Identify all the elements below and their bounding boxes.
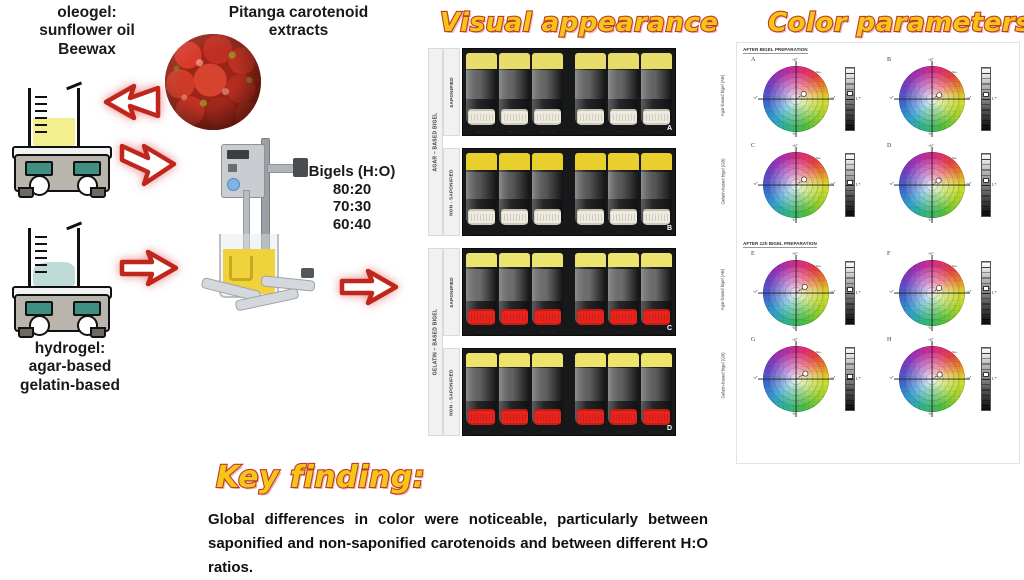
- panel-letter: A: [751, 57, 755, 63]
- color-wheel-panel-e: E+b*-b*-a*+a*hueL*: [751, 251, 875, 335]
- visual-treatment-label: SAPONIFIED: [443, 48, 460, 136]
- vial-bigel-layer: [575, 172, 606, 199]
- chromaticity-diagram: [763, 260, 829, 326]
- lightness-ticks: [846, 262, 854, 324]
- axis-label-a-negative: -a*: [889, 182, 894, 186]
- stirrer-display: [227, 150, 249, 159]
- stirrer-indicator-icon: [227, 178, 240, 191]
- vial-tube: [532, 253, 563, 325]
- key-finding-heading: Key finding:: [216, 460, 425, 495]
- color-wheel-panel-b: B+b*-b*-a*+a*hueL*: [887, 57, 1011, 141]
- chromaticity-diagram: [899, 346, 965, 412]
- color-wheel-panel-a: A+b*-b*-a*+a*hueL*: [751, 57, 875, 141]
- color-parameters-figure: AFTER BIGEL PREPARATION AFTER 12h BIGEL …: [736, 42, 1020, 464]
- visual-panel-d: GB80:20_400GB70:30_400GB60:40_400GB80:20…: [462, 348, 676, 436]
- vial-oleogel-layer: [466, 153, 497, 170]
- hue-arc-label: hue: [952, 70, 957, 74]
- color-parameters-heading: Color parameters: [768, 8, 1024, 38]
- vial-sample: GB60:40_400: [532, 353, 563, 435]
- vial-sample: AB80:20_800: [575, 53, 606, 135]
- vial-bigel-layer: [608, 368, 639, 401]
- vial-sample-label: GB80:20_400: [466, 331, 497, 334]
- color-row-axis-title-text: Agar-based bigel (AB): [721, 268, 726, 309]
- axis-label-a-positive: +a*: [830, 182, 835, 186]
- visual-treatment-label: NON - SAPONIFIED: [443, 348, 460, 436]
- vial-sample: AB60:40_400: [532, 53, 563, 135]
- vial-tube: [532, 53, 563, 125]
- lightness-marker: [983, 92, 989, 97]
- vial-sample: GB80:20_400: [466, 353, 497, 435]
- lightness-scale-bar: [845, 67, 855, 131]
- vial-tube: [466, 353, 497, 425]
- a-axis: [894, 379, 970, 380]
- vial-oleogel-layer: [608, 153, 639, 170]
- vial-tube: [608, 353, 639, 425]
- axis-label-a-positive: +a*: [830, 290, 835, 294]
- color-row-axis-title: Gelatin-based bigel (GB): [716, 142, 730, 220]
- vial-cap: [643, 409, 670, 425]
- vial-sample: GB70:30_800: [608, 353, 639, 435]
- lightness-axis-label: L*: [856, 376, 860, 381]
- vial-bigel-layer: [499, 70, 530, 99]
- hue-arc-label: hue: [816, 264, 821, 268]
- vial-oleogel-layer: [532, 53, 563, 69]
- a-axis: [894, 99, 970, 100]
- vial-bigel-layer: [532, 368, 563, 401]
- vial-cap: [610, 309, 637, 325]
- arrow-oleogel-to-stirrer: [118, 140, 180, 192]
- lightness-scale-bar: [981, 347, 991, 411]
- axis-label-b-positive: +b*: [792, 144, 798, 148]
- vial-cap: [468, 409, 495, 425]
- vial-sample: GB80:20_400: [466, 253, 497, 335]
- vial-cap: [610, 209, 637, 225]
- vial-sample: GB70:30_400: [499, 353, 530, 435]
- color-row-axis-title-text: Gelatin-based bigel (GB): [721, 158, 726, 204]
- lightness-ticks: [982, 68, 990, 130]
- vial-cap: [501, 109, 528, 125]
- vial-sample-label: GB70:30_400: [499, 431, 530, 434]
- vial-sample: GB60:40_800: [641, 353, 672, 435]
- vial-bigel-layer: [499, 269, 530, 301]
- vial-sample: AB60:40_800: [641, 53, 672, 135]
- panel-letter: C: [751, 143, 755, 149]
- vial-bigel-layer: [608, 269, 639, 301]
- lightness-axis-label: L*: [992, 376, 996, 381]
- vial-tube: [608, 253, 639, 325]
- vial-sample-label: AB80:20_400: [466, 231, 497, 234]
- hue-arc-label: hue: [816, 350, 821, 354]
- axis-label-b-negative: -b*: [928, 412, 933, 416]
- visual-treatment-text: SAPONIFIED: [449, 77, 454, 108]
- color-wheel-panel-h: H+b*-b*-a*+a*hueL*: [887, 337, 1011, 421]
- arrow-hydrogel-to-stirrer: [118, 248, 180, 288]
- pitanga-fruit-image: [165, 34, 261, 130]
- axis-label-a-negative: -a*: [889, 376, 894, 380]
- vial-group: GB80:20_400GB70:30_400GB60:40_400: [463, 249, 566, 335]
- vial-tube: [641, 153, 672, 225]
- visual-treatment-text: NON - SAPONIFIED: [449, 369, 454, 415]
- visual-treatment-label: NON - SAPONIFIED: [443, 148, 460, 236]
- vial-tube: [466, 53, 497, 125]
- lightness-ticks: [846, 68, 854, 130]
- vial-cap: [643, 309, 670, 325]
- vial-tube: [641, 353, 672, 425]
- color-row-axis-title: Gelatin-based bigel (GB): [716, 336, 730, 414]
- vial-oleogel-layer: [466, 253, 497, 267]
- a-axis: [894, 185, 970, 186]
- hue-arc-label: hue: [816, 156, 821, 160]
- lightness-marker: [847, 180, 853, 185]
- axis-label-a-positive: +a*: [966, 290, 971, 294]
- vial-bigel-layer: [466, 70, 497, 99]
- visual-panel-b: AB80:20_400AB70:30_400AB60:40_400AB80:20…: [462, 148, 676, 236]
- vial-bigel-layer: [641, 172, 672, 199]
- vial-sample: AB80:20_800: [575, 153, 606, 235]
- vial-bigel-layer: [532, 172, 563, 199]
- vial-oleogel-layer: [575, 253, 606, 267]
- vial-cap: [501, 209, 528, 225]
- lightness-scale-bar: [845, 153, 855, 217]
- vial-bigel-layer: [499, 172, 530, 199]
- axis-label-a-negative: -a*: [753, 96, 758, 100]
- vial-sample-label: GB80:20_800: [575, 331, 606, 334]
- vial-sample-label: AB70:30_400: [499, 231, 530, 234]
- visual-panel-c: GB80:20_400GB70:30_400GB60:40_400GB80:20…: [462, 248, 676, 336]
- stirrer-button[interactable]: [228, 164, 237, 172]
- vial-sample: GB70:30_800: [608, 253, 639, 335]
- lightness-axis-label: L*: [992, 96, 996, 101]
- hue-arc-label: hue: [816, 70, 821, 74]
- visual-group-label-agar: AGAR – BASED BIGEL: [428, 48, 443, 236]
- vial-sample: AB70:30_400: [499, 53, 530, 135]
- vial-group: GB80:20_400GB70:30_400GB60:40_400: [463, 349, 566, 435]
- vial-tube: [575, 353, 606, 425]
- vial-sample-label: AB70:30_400: [499, 131, 530, 134]
- vial-bigel-layer: [608, 70, 639, 99]
- color-wheel-panel-f: F+b*-b*-a*+a*hueL*: [887, 251, 1011, 335]
- axis-label-a-negative: -a*: [753, 376, 758, 380]
- vial-group: GB80:20_800GB70:30_800GB60:40_800: [572, 349, 675, 435]
- vial-oleogel-layer: [641, 253, 672, 267]
- vial-sample-label: GB80:20_400: [466, 431, 497, 434]
- vial-oleogel-layer: [641, 153, 672, 170]
- vial-oleogel-layer: [499, 253, 530, 267]
- lightness-marker: [847, 91, 853, 96]
- lightness-ticks: [982, 262, 990, 324]
- panel-letter: G: [751, 337, 755, 343]
- axis-label-a-positive: +a*: [966, 182, 971, 186]
- a-axis: [758, 379, 834, 380]
- vial-cap: [643, 209, 670, 225]
- lightness-scale-bar: [981, 153, 991, 217]
- vial-group: AB80:20_400AB70:30_400AB60:40_400: [463, 49, 566, 135]
- a-axis: [758, 293, 834, 294]
- color-wheel-panel-c: C+b*-b*-a*+a*hueL*: [751, 143, 875, 227]
- a-axis: [894, 293, 970, 294]
- vial-oleogel-layer: [499, 353, 530, 367]
- vial-tube: [499, 353, 530, 425]
- vial-cap: [643, 109, 670, 125]
- vial-sample-label: AB60:40_400: [532, 131, 563, 134]
- lightness-axis-label: L*: [992, 290, 996, 295]
- vial-sample-label: GB80:20_800: [575, 431, 606, 434]
- vial-sample: AB70:30_400: [499, 153, 530, 235]
- arrow-stirrer-to-results: [338, 268, 400, 306]
- vial-oleogel-layer: [532, 253, 563, 267]
- panel-letter: D: [887, 143, 891, 149]
- vial-sample-label: AB80:20_800: [575, 231, 606, 234]
- visual-appearance-heading: Visual appearance: [440, 8, 718, 38]
- axis-label-b-negative: -b*: [792, 326, 797, 330]
- vial-tube: [575, 153, 606, 225]
- lightness-scale-bar: [981, 261, 991, 325]
- key-finding-body: Global differences in color were noticea…: [208, 508, 708, 580]
- panel-letter: H: [887, 337, 891, 343]
- vial-bigel-layer: [641, 368, 672, 401]
- vial-tube: [466, 253, 497, 325]
- color-row-axis-title: Agar-based bigel (AB): [716, 250, 730, 328]
- visual-panel-letter: A: [667, 125, 672, 132]
- visual-group-label-text: AGAR – BASED BIGEL: [433, 113, 439, 172]
- axis-label-a-positive: +a*: [830, 376, 835, 380]
- vial-bigel-layer: [641, 70, 672, 99]
- panel-letter: B: [887, 57, 891, 63]
- vial-tube: [575, 53, 606, 125]
- visual-panel-letter: B: [667, 225, 672, 232]
- vial-sample-label: GB70:30_800: [608, 331, 639, 334]
- vial-tube: [608, 153, 639, 225]
- a-axis: [758, 99, 834, 100]
- lightness-axis-label: L*: [856, 290, 860, 295]
- vial-bigel-layer: [466, 269, 497, 301]
- vial-cap: [577, 309, 604, 325]
- axis-label-b-negative: -b*: [928, 218, 933, 222]
- vial-bigel-layer: [641, 269, 672, 301]
- vial-sample: AB60:40_800: [641, 153, 672, 235]
- stirrer-impeller: [229, 256, 253, 281]
- vial-cap: [468, 309, 495, 325]
- vial-group: AB80:20_800AB70:30_800AB60:40_800: [572, 49, 675, 135]
- vial-tube: [608, 53, 639, 125]
- arrow-extract-to-oleogel: [100, 82, 162, 122]
- color-wheel-panel-g: G+b*-b*-a*+a*hueL*: [751, 337, 875, 421]
- vial-oleogel-layer: [532, 353, 563, 367]
- vial-oleogel-layer: [608, 53, 639, 69]
- axis-label-a-negative: -a*: [753, 290, 758, 294]
- lightness-axis-label: L*: [856, 96, 860, 101]
- axis-label-b-negative: -b*: [792, 218, 797, 222]
- beaker-spout: [66, 221, 86, 239]
- vial-oleogel-layer: [532, 153, 563, 170]
- axis-label-a-positive: +a*: [966, 96, 971, 100]
- vial-sample: GB60:40_800: [641, 253, 672, 335]
- vial-sample-label: GB60:40_400: [532, 331, 563, 334]
- vial-cap: [501, 409, 528, 425]
- color-row-axis-title-text: Gelatin-based bigel (GB): [721, 352, 726, 398]
- chromaticity-diagram: [763, 346, 829, 412]
- vial-sample: AB70:30_800: [608, 153, 639, 235]
- lightness-scale-bar: [981, 67, 991, 131]
- lightness-axis-label: L*: [992, 182, 996, 187]
- vial-sample-label: GB70:30_800: [608, 431, 639, 434]
- stirrer-base-knob: [301, 268, 314, 278]
- chromaticity-diagram: [763, 66, 829, 132]
- vial-cap: [534, 209, 561, 225]
- vial-bigel-layer: [575, 70, 606, 99]
- beaker-spout: [66, 81, 86, 99]
- vial-sample: AB60:40_400: [532, 153, 563, 235]
- axis-label-a-positive: +a*: [966, 376, 971, 380]
- vial-sample: GB80:20_800: [575, 353, 606, 435]
- vial-sample: GB80:20_800: [575, 253, 606, 335]
- vial-sample: AB80:20_400: [466, 153, 497, 235]
- vial-cap: [501, 309, 528, 325]
- vial-cap: [577, 409, 604, 425]
- axis-label-a-negative: -a*: [753, 182, 758, 186]
- hue-arc-label: hue: [952, 350, 957, 354]
- visual-treatment-text: NON - SAPONIFIED: [449, 169, 454, 215]
- vial-sample-label: AB70:30_800: [608, 231, 639, 234]
- bigel-ratio-1: 80:20: [296, 181, 408, 199]
- vial-cap: [468, 209, 495, 225]
- vial-sample-label: AB60:40_400: [532, 231, 563, 234]
- chromaticity-diagram: [899, 260, 965, 326]
- vial-bigel-layer: [499, 368, 530, 401]
- axis-label-b-positive: +b*: [792, 338, 798, 342]
- visual-group-label-text: GELATIN – BASED BIGEL: [433, 309, 439, 376]
- vial-oleogel-layer: [641, 53, 672, 69]
- vial-tube: [499, 253, 530, 325]
- vial-cap: [577, 209, 604, 225]
- chromaticity-diagram: [763, 152, 829, 218]
- lightness-ticks: [846, 154, 854, 216]
- lightness-scale-bar: [845, 261, 855, 325]
- vial-sample-label: GB70:30_400: [499, 331, 530, 334]
- vial-bigel-layer: [575, 269, 606, 301]
- vial-tube: [641, 253, 672, 325]
- lightness-marker: [847, 287, 853, 292]
- axis-label-b-positive: +b*: [792, 252, 798, 256]
- vial-cap: [534, 409, 561, 425]
- a-axis: [758, 185, 834, 186]
- panel-letter: E: [751, 251, 755, 257]
- axis-label-b-positive: +b*: [928, 252, 934, 256]
- hotplate-stirrer-hydrogel: [12, 228, 112, 336]
- vial-group: AB80:20_800AB70:30_800AB60:40_800: [572, 149, 675, 235]
- vial-cap: [577, 109, 604, 125]
- vial-sample: GB70:30_400: [499, 253, 530, 335]
- vial-oleogel-layer: [466, 353, 497, 367]
- axis-label-a-positive: +a*: [830, 96, 835, 100]
- vial-sample-label: AB70:30_800: [608, 131, 639, 134]
- bigels-title: Bigels (H:O): [296, 163, 408, 181]
- vial-bigel-layer: [466, 172, 497, 199]
- bigels-ratio-block: Bigels (H:O) 80:20 70:30 60:40: [296, 163, 408, 234]
- lightness-marker: [983, 372, 989, 377]
- axis-label-b-negative: -b*: [928, 132, 933, 136]
- vial-tube: [532, 153, 563, 225]
- vial-cap: [610, 109, 637, 125]
- vial-oleogel-layer: [641, 353, 672, 367]
- visual-panel-letter: D: [667, 425, 672, 432]
- chromaticity-diagram: [899, 66, 965, 132]
- axis-label-a-negative: -a*: [889, 96, 894, 100]
- section-header-after-prep: AFTER BIGEL PREPARATION: [743, 47, 808, 54]
- visual-panel-a: AB80:20_400AB70:30_400AB60:40_400AB80:20…: [462, 48, 676, 136]
- vial-bigel-layer: [466, 368, 497, 401]
- axis-label-b-positive: +b*: [792, 58, 798, 62]
- hue-arc-label: hue: [952, 264, 957, 268]
- vial-oleogel-layer: [499, 153, 530, 170]
- lightness-ticks: [982, 154, 990, 216]
- color-row-axis-title-text: Agar-based bigel (AB): [721, 74, 726, 115]
- hydrogel-label: hydrogel: agar-based gelatin-based: [0, 340, 140, 395]
- section-header-after-12h: AFTER 12h BIGEL PREPARATION: [743, 241, 817, 248]
- vial-oleogel-layer: [499, 53, 530, 69]
- oleogel-label: oleogel: sunflower oil Beewax: [2, 4, 172, 59]
- visual-treatment-text: SAPONIFIED: [449, 277, 454, 308]
- vial-oleogel-layer: [575, 53, 606, 69]
- vial-bigel-layer: [532, 70, 563, 99]
- vial-tube: [575, 253, 606, 325]
- vial-oleogel-layer: [608, 253, 639, 267]
- hue-arc-label: hue: [952, 156, 957, 160]
- vial-oleogel-layer: [575, 353, 606, 367]
- bigel-ratio-3: 60:40: [296, 216, 408, 234]
- vial-oleogel-layer: [608, 353, 639, 367]
- axis-label-b-positive: +b*: [928, 144, 934, 148]
- color-wheel-panel-d: D+b*-b*-a*+a*hueL*: [887, 143, 1011, 227]
- visual-panel-letter: C: [667, 325, 672, 332]
- lightness-marker: [983, 178, 989, 183]
- vial-group: AB80:20_400AB70:30_400AB60:40_400: [463, 149, 566, 235]
- vial-tube: [532, 353, 563, 425]
- panel-letter: F: [887, 251, 890, 257]
- vial-sample-label: GB60:40_400: [532, 431, 563, 434]
- bigel-ratio-2: 70:30: [296, 198, 408, 216]
- chromaticity-diagram: [899, 152, 965, 218]
- lightness-axis-label: L*: [856, 182, 860, 187]
- lightness-marker: [847, 374, 853, 379]
- vial-tube: [499, 53, 530, 125]
- vial-tube: [641, 53, 672, 125]
- axis-label-b-positive: +b*: [928, 338, 934, 342]
- vial-bigel-layer: [575, 368, 606, 401]
- vial-sample: AB70:30_800: [608, 53, 639, 135]
- vial-oleogel-layer: [575, 153, 606, 170]
- visual-group-label-gelatin: GELATIN – BASED BIGEL: [428, 248, 443, 436]
- vial-sample-label: AB80:20_800: [575, 131, 606, 134]
- vial-sample: AB80:20_400: [466, 53, 497, 135]
- vial-oleogel-layer: [466, 53, 497, 69]
- visual-treatment-label: SAPONIFIED: [443, 248, 460, 336]
- color-row-axis-title: Agar-based bigel (AB): [716, 56, 730, 134]
- vial-tube: [499, 153, 530, 225]
- vial-cap: [534, 109, 561, 125]
- vial-cap: [468, 109, 495, 125]
- axis-label-a-negative: -a*: [889, 290, 894, 294]
- lightness-marker: [983, 286, 989, 291]
- vial-cap: [534, 309, 561, 325]
- axis-label-b-positive: +b*: [928, 58, 934, 62]
- lightness-ticks: [982, 348, 990, 410]
- vial-group: GB80:20_800GB70:30_800GB60:40_800: [572, 249, 675, 335]
- axis-label-b-negative: -b*: [928, 326, 933, 330]
- axis-label-b-negative: -b*: [792, 412, 797, 416]
- lightness-scale-bar: [845, 347, 855, 411]
- vial-bigel-layer: [532, 269, 563, 301]
